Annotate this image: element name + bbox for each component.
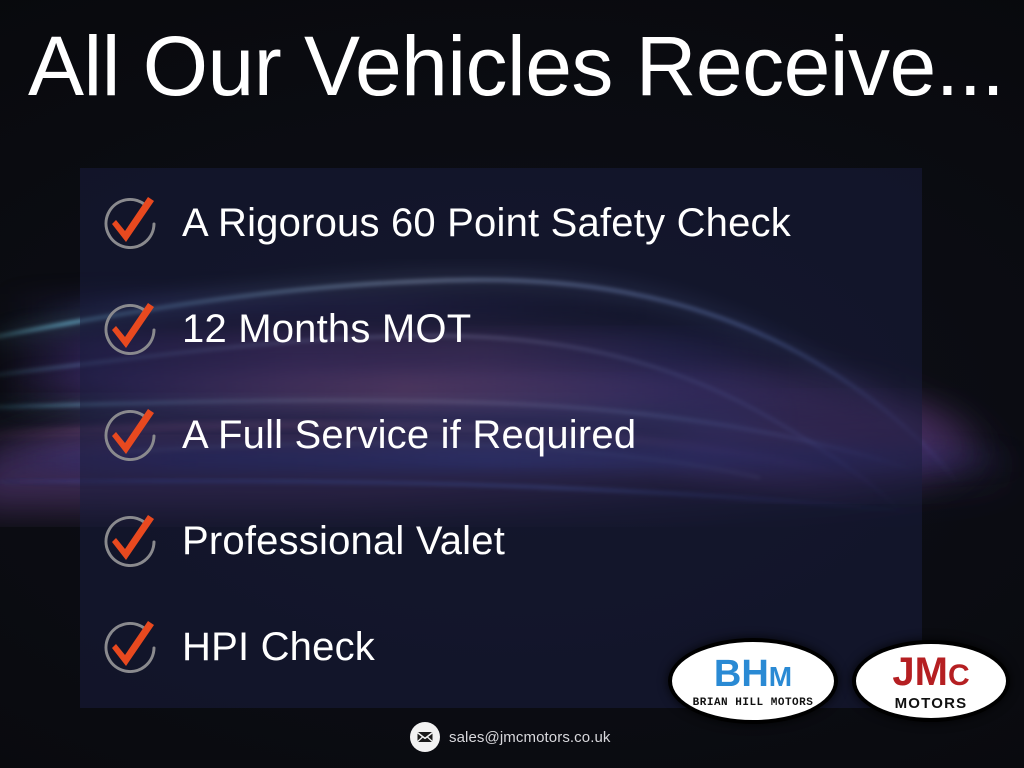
dealer-logos: BHM BRIAN HILL MOTORS JMC MOTORS: [668, 638, 1010, 724]
jmc-logo-initials: JMC: [892, 652, 969, 692]
bhm-logo: BHM BRIAN HILL MOTORS: [668, 638, 838, 724]
bhm-logo-initials: BHM: [714, 655, 792, 693]
orange-check-circle-icon: [98, 298, 164, 364]
list-item: 12 Months MOT: [98, 296, 918, 366]
list-item-label: Professional Valet: [182, 521, 505, 565]
list-item: Professional Valet: [98, 508, 918, 578]
footer-contact: sales@jmcmotors.co.uk: [410, 722, 611, 752]
jmc-logo-subtitle: MOTORS: [895, 696, 968, 711]
bhm-initials-main: BH: [714, 653, 769, 695]
envelope-icon: [410, 722, 440, 752]
promotional-slide: All Our Vehicles Receive... A Rigorous 6…: [0, 0, 1024, 768]
list-item-label: 12 Months MOT: [182, 309, 471, 353]
list-item-label: HPI Check: [182, 627, 375, 671]
list-item-label: A Full Service if Required: [182, 415, 636, 459]
footer-email-text: sales@jmcmotors.co.uk: [449, 729, 611, 746]
orange-check-circle-icon: [98, 510, 164, 576]
orange-check-circle-icon: [98, 192, 164, 258]
orange-check-circle-icon: [98, 616, 164, 682]
bhm-logo-subtitle: BRIAN HILL MOTORS: [693, 698, 814, 709]
jmc-logo: JMC MOTORS: [852, 640, 1010, 722]
jmc-initials-small: C: [948, 659, 970, 692]
page-title: All Our Vehicles Receive...: [28, 22, 1004, 110]
jmc-initials-main: JM: [892, 650, 948, 694]
list-item: A Full Service if Required: [98, 402, 918, 472]
list-item: A Rigorous 60 Point Safety Check: [98, 190, 918, 260]
orange-check-circle-icon: [98, 404, 164, 470]
bhm-initials-small: M: [769, 661, 792, 692]
list-item-label: A Rigorous 60 Point Safety Check: [182, 203, 791, 247]
